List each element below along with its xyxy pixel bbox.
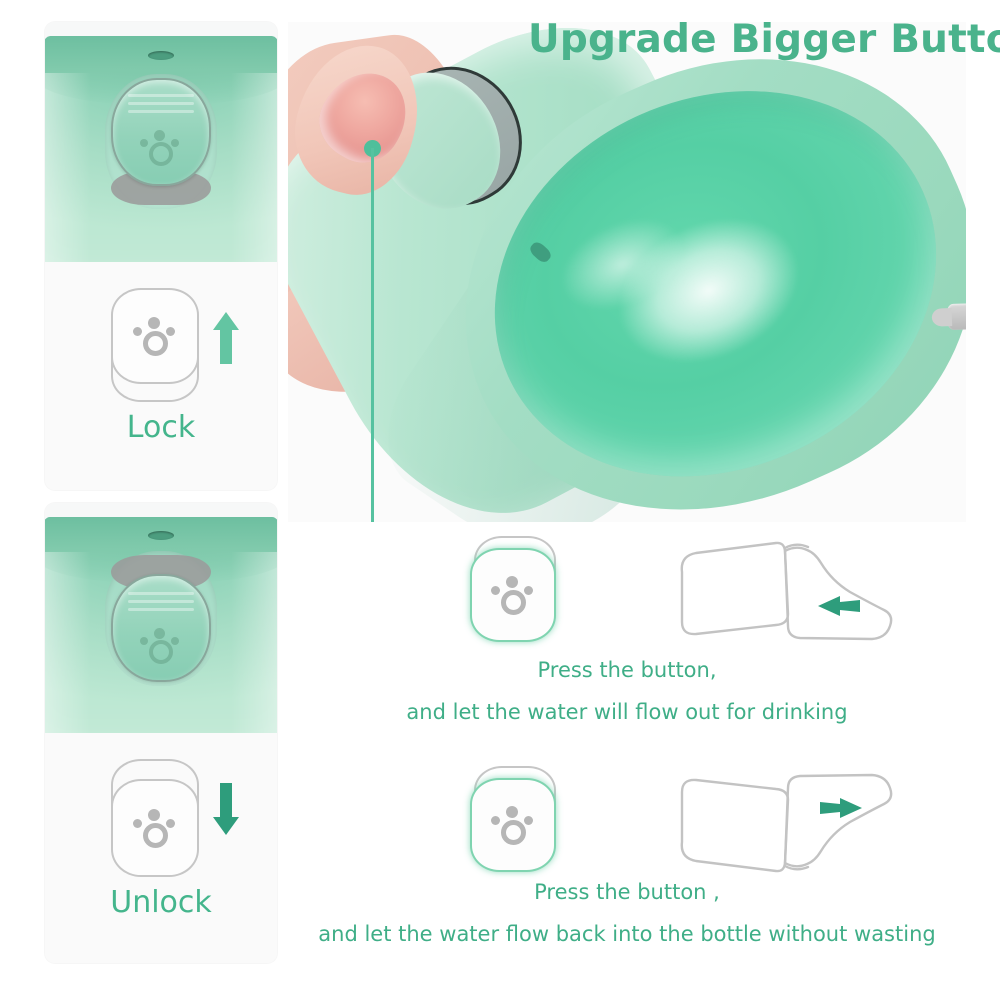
cap-right-sheen [231,73,277,262]
lock-button-well [105,74,217,209]
lock-button-outline [111,288,199,402]
cap-vent-hole [148,51,174,60]
step1-flow-diagram [672,534,898,652]
unlock-label: Unlock [45,885,277,920]
water-inside-bowl [578,176,840,407]
step1-line2: and let the water will flow out for drin… [288,700,966,724]
page-title: Upgrade Bigger Button [528,17,1000,62]
paw-button-locked[interactable] [111,78,211,186]
button-face-outline [470,548,556,642]
button-face-outline [111,288,199,384]
button-face-outline [470,778,556,872]
button-ridge [128,600,193,603]
thumbnail [306,57,422,176]
step2-line1: Press the button , [288,880,966,904]
lock-card: Lock [45,22,277,490]
button-ridge [128,94,193,97]
paw-icon [133,316,177,356]
button-ridge [128,110,193,113]
callout-line [371,148,374,522]
unlock-card: Unlock [45,503,277,963]
paw-button-unlocked[interactable] [111,574,211,682]
arrow-down-icon [213,783,239,835]
paw-icon [491,805,535,845]
lock-diagram-area: Lock [45,262,277,490]
cap-vent-hole [148,531,174,540]
unlock-diagram-area: Unlock [45,733,277,963]
lock-photo [45,22,277,262]
water-outlet [527,240,553,265]
paw-icon [133,808,177,848]
button-ridge [128,592,193,595]
step2-line2: and let the water flow back into the bot… [288,922,966,946]
unlock-button-outline [111,759,199,877]
bowl-clip [947,302,966,330]
step1-paw-button[interactable] [470,536,556,642]
infographic-canvas: Upgrade Bigger Button [0,0,1000,1000]
paw-icon [140,626,182,664]
step2-flow-diagram [672,762,898,880]
step1-line1: Press the button, [288,658,966,682]
cap-left-sheen [45,73,91,262]
arrow-up-icon [213,312,239,364]
button-face-outline [111,779,199,877]
step2-paw-button[interactable] [470,766,556,872]
hero-product-photo [288,22,966,522]
lock-label: Lock [45,410,277,445]
cap-left-sheen [45,552,91,733]
paw-icon [491,575,535,615]
cap-right-sheen [231,552,277,733]
unlock-button-well [105,551,217,686]
unlock-photo [45,503,277,733]
button-ridge [128,608,193,611]
button-ridge [128,102,193,105]
paw-icon [140,128,182,166]
